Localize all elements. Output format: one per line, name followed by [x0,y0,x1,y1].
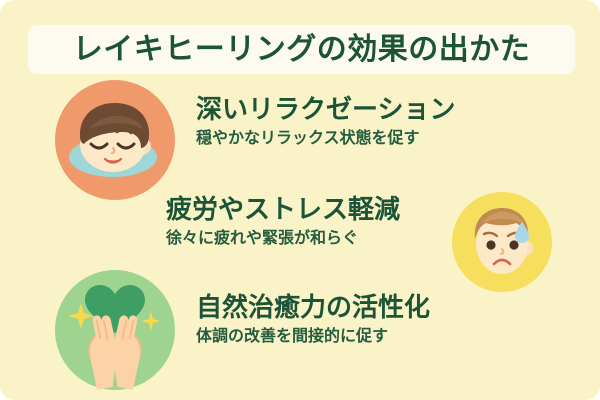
row-text-deep-relaxation: 深いリラクゼーション 穏やかなリラックス状態を促す [196,96,455,148]
row-subtitle: 穏やかなリラックス状態を促す [196,129,455,147]
row-title: 深いリラクゼーション [196,96,455,125]
row-text-fatigue-stress-relief: 疲労やストレス軽減 徐々に疲れや緊張が和らぐ [166,196,400,248]
row-title: 自然治癒力の活性化 [196,294,430,323]
tired-face-icon [452,192,552,292]
row-subtitle: 体調の改善を間接的に促す [196,327,430,345]
title-card: レイキヒーリングの効果の出かた [28,25,575,74]
row-text-natural-healing-activation: 自然治癒力の活性化 体調の改善を間接的に促す [196,294,430,346]
row-subtitle: 徐々に疲れや緊張が和らぐ [166,229,400,247]
sleeping-face-icon [55,80,175,200]
row-title: 疲労やストレス軽減 [166,196,400,225]
healing-hands-heart-icon [55,270,175,390]
page-title: レイキヒーリングの効果の出かた [73,35,531,65]
infographic-canvas: レイキヒーリングの効果の出かた 深いリラクゼーション [0,0,600,400]
